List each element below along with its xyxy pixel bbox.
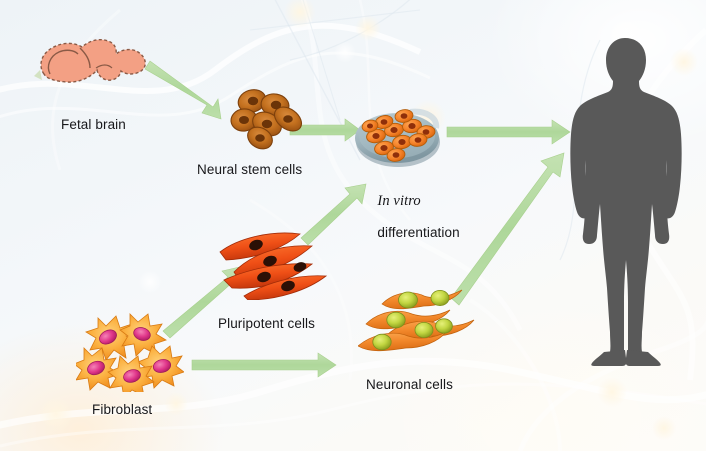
neuronal-cells-cluster: [358, 288, 476, 362]
neural-stem-cells-cluster: [222, 86, 308, 150]
fibroblast-cells-cluster: [76, 312, 184, 392]
label-neuronal-cells: Neuronal cells: [366, 377, 453, 393]
label-pluripotent-cells: Pluripotent cells: [218, 316, 315, 332]
arrow-neuronal-to-human: [451, 153, 564, 305]
label-fibroblast: Fibroblast: [92, 402, 152, 418]
arrow-dish-to-human: [447, 120, 570, 144]
fetal-brain-illustration: [28, 30, 158, 92]
arrow-fibroblast-to-neuronal: [192, 353, 336, 377]
diagram-canvas: Fetal brain Neural stem cells In vitro d…: [0, 0, 706, 451]
human-body-silhouette: [560, 36, 690, 366]
label-neural-stem-cells: Neural stem cells: [197, 162, 302, 178]
label-in-vitro: In vitro: [377, 193, 420, 209]
label-differentiation: differentiation: [377, 225, 459, 240]
petri-dish-illustration: [352, 100, 448, 170]
label-fetal-brain: Fetal brain: [61, 117, 126, 133]
pluripotent-cells-cluster: [216, 228, 332, 300]
label-in-vitro-differentiation: In vitro differentiation: [362, 177, 460, 257]
